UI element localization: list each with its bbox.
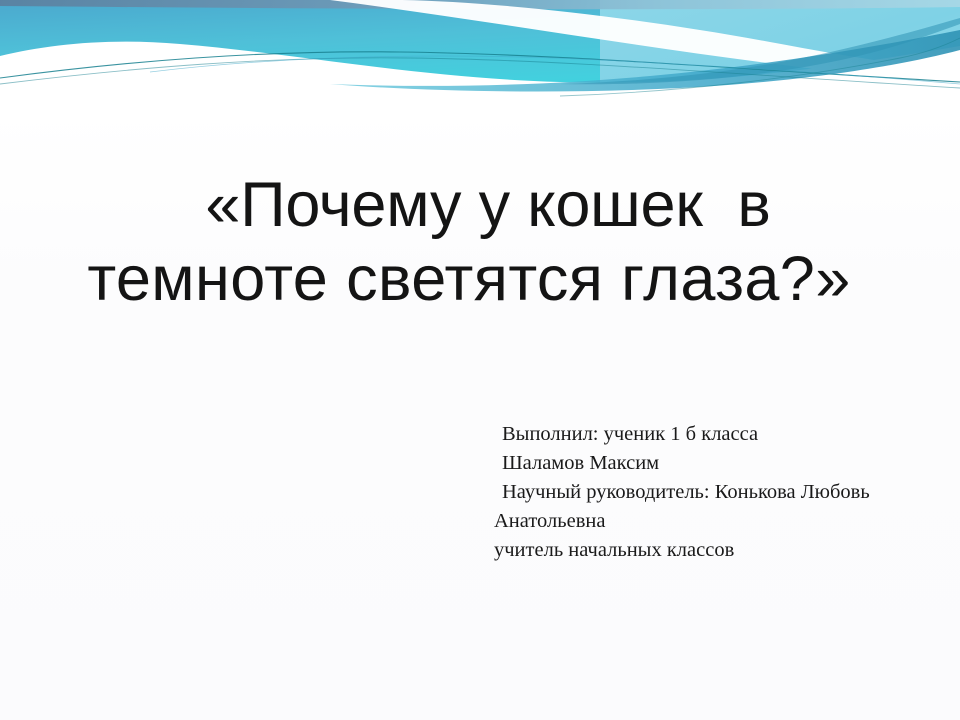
wave-banner-graphic (0, 0, 960, 112)
decorative-wave-banner (0, 0, 960, 112)
slide-title: «Почему у кошек в темноте светятся глаза… (60, 168, 900, 316)
presentation-slide: «Почему у кошек в темноте светятся глаза… (0, 0, 960, 720)
credit-line-author-name: Шаламов Максим (494, 449, 954, 478)
credit-line-supervisor-patronymic: Анатольевна (494, 507, 954, 536)
credit-line-supervisor-role: учитель начальных классов (494, 536, 954, 565)
credits-block: Выполнил: ученик 1 б класса Шаламов Макс… (494, 420, 954, 565)
credit-line-author-role: Выполнил: ученик 1 б класса (494, 420, 954, 449)
credit-line-supervisor: Научный руководитель: Конькова Любовь (494, 478, 954, 507)
title-line-2: темноте светятся глаза?» (38, 242, 900, 316)
title-line-1: «Почему у кошек в (76, 168, 900, 242)
